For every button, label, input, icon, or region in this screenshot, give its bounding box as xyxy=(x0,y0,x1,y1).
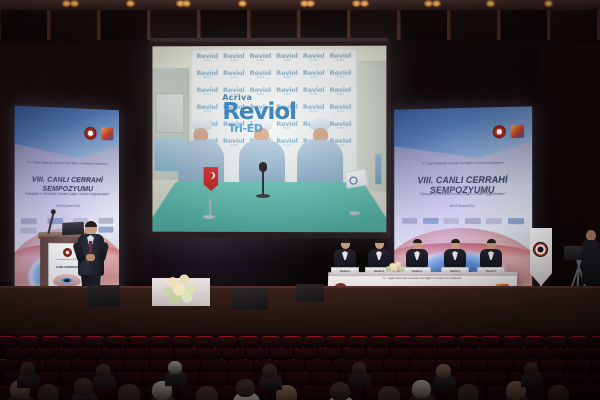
banner-subtitle: "Katarakt ve Refraktif Cerrahi Çağın Cer… xyxy=(23,192,111,197)
audience-seat xyxy=(370,336,391,348)
audience-member-head xyxy=(74,378,93,396)
audience-seat xyxy=(306,359,331,373)
audience-seat xyxy=(72,359,97,373)
sponsor-logo xyxy=(486,218,502,224)
audience-seat xyxy=(238,336,259,348)
stage-monitor-speaker xyxy=(88,285,120,307)
audience-seat xyxy=(590,336,600,348)
audience-seat xyxy=(150,347,173,360)
audience-seat xyxy=(304,336,325,348)
audience-member-head xyxy=(378,386,400,400)
audience-seat xyxy=(216,336,237,348)
eye-logo-icon xyxy=(84,127,96,140)
banner-date: 28-29 Şubat 2014 xyxy=(23,204,111,208)
banner-sponsor-logos xyxy=(402,218,523,224)
audience-member-head xyxy=(196,386,218,400)
acriva-reviol-logo: Acriva Reviol Tri-ED xyxy=(222,94,325,134)
audience-seat xyxy=(126,347,149,360)
sponsor-tile: ReviolTri-ED xyxy=(300,70,327,87)
audience-seat xyxy=(540,359,565,373)
audience-seat xyxy=(0,336,17,348)
audience-seat xyxy=(62,336,83,348)
sponsor-tile: ReviolTri-ED xyxy=(274,53,301,70)
audience-seat xyxy=(384,359,409,373)
audience-seat xyxy=(128,336,149,348)
audience-seat xyxy=(462,359,487,373)
audience-seat xyxy=(462,347,485,360)
panelist xyxy=(444,239,466,267)
sponsor-tile: ReviolTri-ED xyxy=(194,87,221,104)
audience-seat xyxy=(172,336,193,348)
speaker-tie xyxy=(89,241,92,253)
panelist-hair xyxy=(451,239,460,243)
audience-member-head xyxy=(236,379,255,397)
audience-seat xyxy=(124,359,149,373)
audience-seat xyxy=(558,347,581,360)
audience-member-head xyxy=(548,385,569,400)
projection-screen-frame: ReviolTri-EDReviolTri-EDReviolTri-EDRevi… xyxy=(148,42,390,239)
panelist-row: Panelist 1Panelist 2Panelist 3Panelist 4… xyxy=(330,243,516,275)
audience-seat xyxy=(228,359,253,373)
ceiling-spotlight xyxy=(360,0,369,7)
audience-seat xyxy=(46,359,71,373)
banner-logo-group xyxy=(492,125,523,139)
eye-logo-icon xyxy=(492,125,505,138)
audience-seat xyxy=(414,347,437,360)
sponsor-logo xyxy=(402,218,417,224)
sponsor-tile: ReviolTri-ED xyxy=(327,70,354,87)
audience-seat xyxy=(326,336,347,348)
sponsor-tile: ReviolTri-ED xyxy=(327,52,354,69)
camera-operator-body xyxy=(582,240,600,284)
audience-seat xyxy=(480,336,501,348)
blue-panel-edge xyxy=(376,154,382,184)
brand-reviol-text: Reviol xyxy=(222,102,325,124)
sponsor-logo xyxy=(465,218,481,224)
ceiling-spotlight xyxy=(182,0,191,7)
audience-member-head xyxy=(38,384,59,400)
ceiling-spotlight xyxy=(544,0,553,7)
audience-seat xyxy=(581,386,600,400)
sponsor-tile: ReviolTri-ED xyxy=(194,70,221,87)
banner-supertitle: T.C. Sağlık Bakanlığı Ulucanlar Göz Eğit… xyxy=(405,161,521,166)
audience-seat xyxy=(410,359,435,373)
panelist xyxy=(480,239,502,267)
audience-member-head xyxy=(262,364,277,378)
audience-seat xyxy=(502,336,523,348)
audience-seat xyxy=(54,347,77,360)
audience-member-head xyxy=(96,364,111,378)
ministry-logo-icon xyxy=(510,125,523,138)
panelist-hair xyxy=(341,239,350,243)
audience-seat xyxy=(342,347,365,360)
audience-seat xyxy=(222,347,245,360)
ceiling-spotlight xyxy=(70,0,79,7)
audience-member-head xyxy=(524,362,538,375)
sponsor-logo xyxy=(507,218,523,224)
audience-seat xyxy=(368,372,395,387)
audience-member-head xyxy=(412,380,431,398)
audience-seat xyxy=(246,347,269,360)
banner-title: VIII. CANLI CERRAHİ SEMPOZYUMU xyxy=(19,174,115,193)
audience-seating xyxy=(0,334,600,400)
sponsor-tile: ReviolTri-ED xyxy=(274,70,301,87)
eye-emblem-icon xyxy=(533,242,548,257)
audience-member-head xyxy=(458,384,479,400)
audience-member-head xyxy=(118,384,140,400)
audience-seat xyxy=(524,336,545,348)
table-microphone-icon xyxy=(262,169,264,195)
audience-seat xyxy=(18,336,39,348)
sponsor-tile: ReviolTri-ED xyxy=(220,53,247,70)
audience-member-head xyxy=(436,364,451,378)
audience-seat xyxy=(592,359,600,373)
audience-seat xyxy=(568,336,589,348)
sponsor-logo xyxy=(444,218,460,224)
audience-seat xyxy=(564,372,591,387)
audience-seat xyxy=(436,336,457,348)
auditorium-photo: ReviolTri-EDReviolTri-EDReviolTri-EDRevi… xyxy=(0,0,600,400)
audience-seat xyxy=(198,347,221,360)
audience-seat xyxy=(200,372,227,387)
audience-seat xyxy=(102,347,125,360)
sponsor-logo xyxy=(423,218,439,224)
audience-seat xyxy=(78,347,101,360)
scrubs-gown xyxy=(297,140,343,184)
audience-seat xyxy=(534,347,557,360)
audience-seat xyxy=(150,336,171,348)
ministry-logo-icon xyxy=(101,127,113,140)
banner-supertitle: T.C. Sağlık Bakanlığı Ulucanlar Göz Eğit… xyxy=(23,161,111,167)
audience-seat xyxy=(202,359,227,373)
audience-seat xyxy=(260,336,281,348)
audience-seat xyxy=(40,336,61,348)
banner-subtitle: "Katarakt ve Refraktif Cerrahi Çağın Cer… xyxy=(405,192,521,196)
panelist-hair xyxy=(375,239,384,243)
table-supertitle: T.C. Sağlık Bakanlığı Ulucanlar Göz Eğit… xyxy=(354,277,490,281)
ceiling-spotlight xyxy=(238,0,247,7)
audience-seat xyxy=(282,336,303,348)
speaker-hands xyxy=(86,254,95,261)
audience-seat xyxy=(194,336,215,348)
sponsor-logo xyxy=(21,218,37,224)
audience-seat xyxy=(174,347,197,360)
audience-seat xyxy=(366,347,389,360)
audience-seat xyxy=(486,347,509,360)
audience-seat xyxy=(294,347,317,360)
audience-seat xyxy=(546,336,567,348)
speaker-hair xyxy=(85,221,97,227)
stage-monitor-speaker xyxy=(296,284,324,302)
sponsor-tile: ReviolTri-ED xyxy=(327,87,354,104)
panelist-hair xyxy=(487,239,496,243)
ceiling-spotlight xyxy=(306,0,315,7)
sponsor-tile: ReviolTri-ED xyxy=(300,53,327,70)
sponsor-logo xyxy=(21,227,37,233)
stage-monitor-speaker xyxy=(232,288,268,310)
panelist xyxy=(406,239,428,267)
audience-seat xyxy=(582,347,600,360)
audience-seat xyxy=(438,347,461,360)
eye-logo-icon xyxy=(63,248,72,257)
audience-member-head xyxy=(168,361,182,374)
sponsor-tile: ReviolTri-ED xyxy=(220,70,247,87)
audience-seat xyxy=(30,347,53,360)
audience-seat xyxy=(510,347,533,360)
audience-member-head xyxy=(20,362,35,376)
audience-seat xyxy=(302,386,332,400)
audience-member-head xyxy=(330,382,350,400)
audience-seat xyxy=(84,336,105,348)
brand-tri-ed-text: Tri-ED xyxy=(228,124,325,134)
sponsor-tile: ReviolTri-ED xyxy=(247,70,274,87)
audience-member-head xyxy=(352,362,366,375)
ceiling-spotlight xyxy=(432,0,441,7)
banner-logo-group xyxy=(84,127,113,141)
sponsor-tile: ReviolTri-ED xyxy=(247,53,274,70)
surgical-drape-table xyxy=(152,182,386,233)
audience-seat xyxy=(592,372,600,387)
panelist-hair xyxy=(413,239,422,243)
audience-seat xyxy=(566,359,591,373)
audience-seat xyxy=(480,372,507,387)
audience-seat xyxy=(0,359,19,373)
flag-pole xyxy=(209,199,210,215)
audience-seat xyxy=(318,347,341,360)
audience-seat xyxy=(270,347,293,360)
ceiling-spotlight xyxy=(486,0,495,7)
audience-seat xyxy=(390,347,413,360)
audience-seat xyxy=(488,359,513,373)
projection-screen: ReviolTri-EDReviolTri-EDReviolTri-EDRevi… xyxy=(152,46,386,233)
ceiling-spotlight xyxy=(126,0,135,7)
table-top-stripe xyxy=(328,272,517,276)
panelist xyxy=(334,239,356,267)
audience-seat xyxy=(106,336,127,348)
sponsor-tile: ReviolTri-ED xyxy=(194,53,221,70)
stage-flower-arrangement xyxy=(160,272,202,306)
audience-seat xyxy=(280,359,305,373)
banner-date: 28-29 Şubat 2014 xyxy=(405,204,521,208)
crescent-icon xyxy=(207,172,214,179)
audience-seat xyxy=(6,347,29,360)
audience-seat xyxy=(348,336,369,348)
audience-seat xyxy=(392,336,413,348)
audience-seat xyxy=(414,336,435,348)
audience-seat xyxy=(458,336,479,348)
